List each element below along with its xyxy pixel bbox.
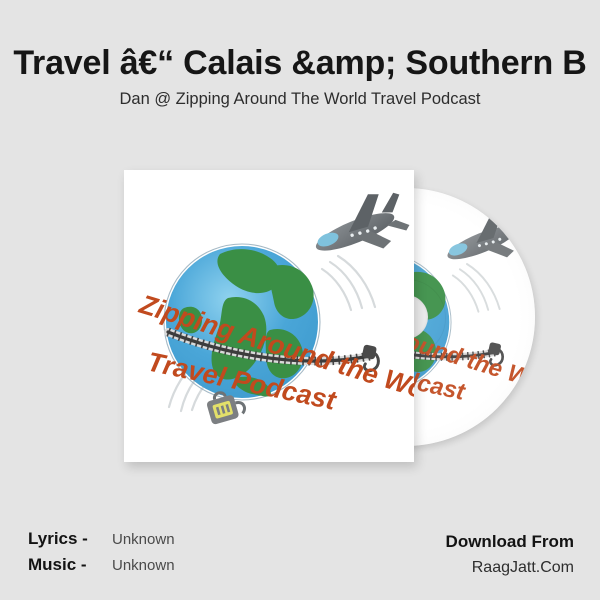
artwork-stage: Zipping Around the World Travel Podcast: [0, 150, 600, 490]
music-label: Music -: [28, 555, 100, 575]
credits-block: Lyrics - Unknown Music - Unknown: [28, 529, 175, 581]
lyrics-label: Lyrics -: [28, 529, 100, 549]
footer-meta: Lyrics - Unknown Music - Unknown Downloa…: [0, 515, 600, 600]
download-from-label: Download From: [446, 529, 574, 555]
lyrics-value: Unknown: [112, 531, 175, 548]
page-title: Travel â€“ Calais &amp; Southern B: [13, 43, 586, 83]
header: Travel â€“ Calais &amp; Southern B Dan @…: [0, 0, 600, 130]
podcast-cover-card: Travel â€“ Calais &amp; Southern B Dan @…: [0, 0, 600, 600]
podcast-logo-graphic: Zipping Around the World Travel Podcast: [124, 170, 414, 462]
album-artwork: Zipping Around the World Travel Podcast: [124, 170, 414, 462]
download-site-name: RaagJatt.Com: [446, 555, 574, 581]
download-block: Download From RaagJatt.Com: [446, 529, 574, 581]
page-subtitle: Dan @ Zipping Around The World Travel Po…: [0, 88, 600, 110]
credit-row-lyrics: Lyrics - Unknown: [28, 529, 175, 555]
album-cover-sleeve: Zipping Around the World Travel Podcast: [124, 170, 414, 462]
credit-row-music: Music - Unknown: [28, 555, 175, 581]
music-value: Unknown: [112, 557, 175, 574]
